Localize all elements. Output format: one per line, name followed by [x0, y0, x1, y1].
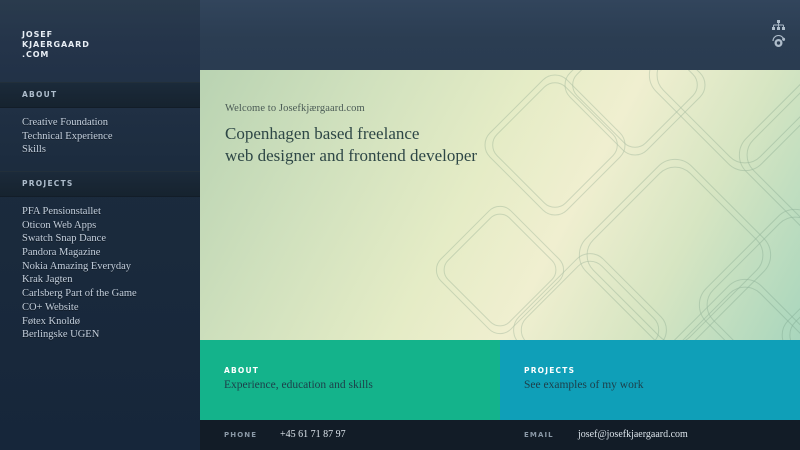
sidebar-item-krak-jagten[interactable]: Krak Jagten	[0, 273, 200, 287]
sidebar-item-oticon-web-apps[interactable]: Oticon Web Apps	[0, 219, 200, 233]
sidebar-item-creative-foundation[interactable]: Creative Foundation	[0, 116, 200, 130]
site-logo[interactable]: JOSEF KJAERGAARD .COM	[22, 30, 90, 61]
cta-about-text: Experience, education and skills	[224, 379, 373, 391]
footer-bar: PHONE +45 61 71 87 97 EMAIL josef@josefk…	[200, 420, 800, 450]
hero-headline: Copenhagen based freelance web designer …	[225, 123, 477, 166]
footer-email-value[interactable]: josef@josefkjaergaard.com	[578, 429, 688, 440]
hero-copy: Welcome to Josefkjærgaard.com Copenhagen…	[225, 103, 477, 166]
hero-welcome-text: Welcome to Josefkjærgaard.com	[225, 103, 477, 114]
cta-panel-about[interactable]: ABOUT Experience, education and skills	[200, 340, 500, 420]
footer-email-label: EMAIL	[524, 431, 554, 439]
sidebar-item-co-plus-website[interactable]: CO+ Website	[0, 301, 200, 315]
sidebar-item-pfa-pensionstallet[interactable]: PFA Pensionstallet	[0, 205, 200, 219]
sidebar-list-about: Creative Foundation Technical Experience…	[0, 116, 200, 157]
logo-line-3: .COM	[22, 50, 90, 60]
settings-gear-icon[interactable]	[771, 35, 786, 48]
sidebar-item-carlsberg-part-of-the-game[interactable]: Carlsberg Part of the Game	[0, 287, 200, 301]
sidebar-item-nokia-amazing-everyday[interactable]: Nokia Amazing Everyday	[0, 260, 200, 274]
cta-panel-projects[interactable]: PROJECTS See examples of my work	[500, 340, 800, 420]
header-bar	[200, 0, 800, 70]
hero-section: Welcome to Josefkjærgaard.com Copenhagen…	[200, 70, 800, 340]
footer-phone-value[interactable]: +45 61 71 87 97	[280, 429, 346, 440]
cta-projects-kicker: PROJECTS	[524, 366, 575, 375]
sidebar-item-fotex-knoldo[interactable]: Føtex Knoldø	[0, 315, 200, 329]
logo-line-1: JOSEF	[22, 30, 90, 40]
sidebar-heading-about-label: ABOUT	[22, 90, 57, 99]
hero-headline-line-2: web designer and frontend developer	[225, 145, 477, 167]
cta-panel-group: ABOUT Experience, education and skills P…	[200, 340, 800, 420]
logo-line-2: KJAERGAARD	[22, 40, 90, 50]
cta-projects-text: See examples of my work	[524, 379, 643, 391]
footer-phone-label: PHONE	[224, 431, 257, 439]
sidebar-item-berlingske-ugen[interactable]: Berlingske UGEN	[0, 328, 200, 342]
page-root: JOSEF KJAERGAARD .COM ABOUT Creative Fou…	[0, 0, 800, 450]
sidebar-item-swatch-snap-dance[interactable]: Swatch Snap Dance	[0, 232, 200, 246]
sidebar-list-projects: PFA Pensionstallet Oticon Web Apps Swatc…	[0, 205, 200, 342]
sidebar-heading-projects: PROJECTS	[0, 171, 200, 197]
hero-headline-line-1: Copenhagen based freelance	[225, 123, 477, 145]
sidebar-heading-about: ABOUT	[0, 82, 200, 108]
sidebar-item-pandora-magazine[interactable]: Pandora Magazine	[0, 246, 200, 260]
sidebar-item-skills[interactable]: Skills	[0, 143, 200, 157]
sitemap-icon[interactable]	[771, 20, 786, 31]
header-icon-group	[771, 20, 786, 48]
sidebar: JOSEF KJAERGAARD .COM ABOUT Creative Fou…	[0, 0, 200, 450]
sidebar-item-technical-experience[interactable]: Technical Experience	[0, 130, 200, 144]
sidebar-heading-projects-label: PROJECTS	[22, 179, 74, 188]
cta-about-kicker: ABOUT	[224, 366, 259, 375]
